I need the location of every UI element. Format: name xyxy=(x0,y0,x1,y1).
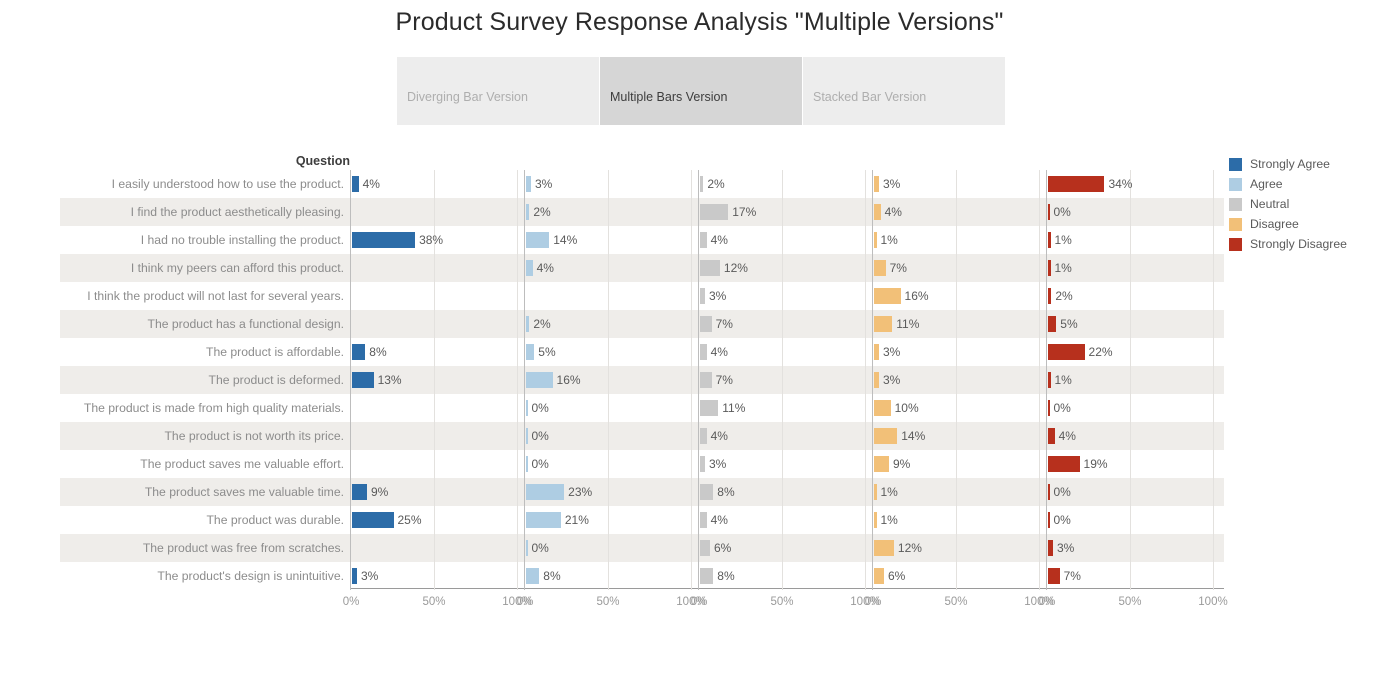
bar[interactable] xyxy=(874,204,881,220)
gridline-50 xyxy=(434,394,435,422)
gridline-100 xyxy=(517,338,518,366)
bar-value-label: 23% xyxy=(564,478,592,506)
axis-tick-label: 50% xyxy=(944,596,967,608)
chart-row: The product is affordable.8%5%4%3%22% xyxy=(0,338,1399,366)
chart-rows: I easily understood how to use the produ… xyxy=(0,170,1399,590)
gridline-50 xyxy=(608,366,609,394)
gridline-50 xyxy=(956,562,957,590)
bar[interactable] xyxy=(1048,176,1104,192)
gridline-50 xyxy=(608,282,609,310)
row-label: The product is made from high quality ma… xyxy=(60,394,350,422)
bar[interactable] xyxy=(700,484,713,500)
panel-strongly-agree: 3% xyxy=(350,562,524,590)
chart-row: The product saves me valuable time.9%23%… xyxy=(0,478,1399,506)
gridline-50 xyxy=(782,282,783,310)
row-label: The product is not worth its price. xyxy=(60,422,350,450)
legend-item-strongly-agree[interactable]: Strongly Agree xyxy=(1229,154,1389,174)
gridline-50 xyxy=(782,198,783,226)
bar-value-label: 8% xyxy=(713,562,734,590)
bar-value-label: 0% xyxy=(1050,506,1071,534)
bar[interactable] xyxy=(526,484,564,500)
bar-value-label: 0% xyxy=(528,422,549,450)
gridline-100 xyxy=(517,310,518,338)
bar[interactable] xyxy=(874,400,891,416)
panel-neutral: 4% xyxy=(698,506,872,534)
panel-neutral: 3% xyxy=(698,450,872,478)
bar-value-label: 16% xyxy=(901,282,929,310)
bar[interactable] xyxy=(700,316,712,332)
bar[interactable] xyxy=(352,344,365,360)
bar[interactable] xyxy=(1048,316,1056,332)
bar-value-label: 5% xyxy=(534,338,555,366)
row-panels: 25%21%4%1%0% xyxy=(350,506,1220,534)
bar[interactable] xyxy=(874,288,901,304)
panel-strongly-disagree: 1% xyxy=(1046,254,1220,282)
bar[interactable] xyxy=(1048,344,1085,360)
bar[interactable] xyxy=(874,456,889,472)
panel-strongly-agree: 8% xyxy=(350,338,524,366)
bar[interactable] xyxy=(700,428,707,444)
panel-neutral: 4% xyxy=(698,226,872,254)
chart-row: I think my peers can afford this product… xyxy=(0,254,1399,282)
gridline-100 xyxy=(1213,422,1214,450)
panel-disagree: 12% xyxy=(872,534,1046,562)
gridline-100 xyxy=(1213,310,1214,338)
bar[interactable] xyxy=(526,512,561,528)
panel-agree: 21% xyxy=(524,506,698,534)
bar-value-label: 1% xyxy=(1051,366,1072,394)
gridline-50 xyxy=(956,338,957,366)
axis-tick-label: 50% xyxy=(1118,596,1141,608)
panel-strongly-agree: 9% xyxy=(350,478,524,506)
gridline-100 xyxy=(1039,254,1040,282)
bar[interactable] xyxy=(874,316,892,332)
row-label: The product was durable. xyxy=(60,506,350,534)
panel-agree xyxy=(524,282,698,310)
gridline-100 xyxy=(691,254,692,282)
panel-strongly-disagree: 4% xyxy=(1046,422,1220,450)
legend-swatch-icon xyxy=(1229,198,1242,211)
bar-value-label: 4% xyxy=(881,198,902,226)
axis-panel-1: 0%50%100% xyxy=(524,592,698,614)
legend-label: Strongly Agree xyxy=(1250,157,1330,171)
gridline-100 xyxy=(1039,478,1040,506)
panel-agree: 14% xyxy=(524,226,698,254)
gridline-100 xyxy=(691,534,692,562)
gridline-100 xyxy=(691,198,692,226)
bar-value-label: 11% xyxy=(718,394,745,422)
gridline-50 xyxy=(608,534,609,562)
gridline-50 xyxy=(782,534,783,562)
gridline-100 xyxy=(1039,198,1040,226)
axis-tick-label: 50% xyxy=(596,596,619,608)
gridline-100 xyxy=(1213,226,1214,254)
legend-item-disagree[interactable]: Disagree xyxy=(1229,214,1389,234)
panel-disagree: 10% xyxy=(872,394,1046,422)
gridline-100 xyxy=(1039,422,1040,450)
panel-strongly-disagree: 2% xyxy=(1046,282,1220,310)
bar-value-label: 7% xyxy=(1060,562,1081,590)
bar-value-label: 3% xyxy=(705,282,726,310)
panel-disagree: 3% xyxy=(872,366,1046,394)
panel-neutral: 2% xyxy=(698,170,872,198)
gridline-50 xyxy=(782,562,783,590)
version-tab-0[interactable]: Diverging Bar Version xyxy=(397,57,599,125)
bar-value-label: 8% xyxy=(713,478,734,506)
bar-value-label: 13% xyxy=(374,366,402,394)
gridline-50 xyxy=(608,562,609,590)
bar[interactable] xyxy=(352,232,415,248)
bar-value-label: 2% xyxy=(1051,282,1072,310)
gridline-50 xyxy=(1130,310,1131,338)
legend-item-neutral[interactable]: Neutral xyxy=(1229,194,1389,214)
gridline-50 xyxy=(1130,338,1131,366)
gridline-100 xyxy=(865,226,866,254)
bar-value-label: 19% xyxy=(1080,450,1108,478)
panel-strongly-agree: 13% xyxy=(350,366,524,394)
gridline-50 xyxy=(782,310,783,338)
panel-agree: 2% xyxy=(524,310,698,338)
bar-value-label: 7% xyxy=(712,310,733,338)
panel-agree: 0% xyxy=(524,394,698,422)
legend-label: Disagree xyxy=(1250,217,1299,231)
bar[interactable] xyxy=(526,232,549,248)
bar-value-label: 8% xyxy=(539,562,560,590)
panel-disagree: 16% xyxy=(872,282,1046,310)
bar[interactable] xyxy=(700,512,707,528)
chart-row: The product is not worth its price.0%4%1… xyxy=(0,422,1399,450)
chart-row: I had no trouble installing the product.… xyxy=(0,226,1399,254)
gridline-100 xyxy=(517,394,518,422)
gridline-50 xyxy=(782,478,783,506)
bar-value-label: 3% xyxy=(879,170,900,198)
bar-value-label: 11% xyxy=(892,310,919,338)
gridline-50 xyxy=(956,506,957,534)
row-panels: 4%12%7%1% xyxy=(350,254,1220,282)
bar[interactable] xyxy=(700,204,728,220)
bar-value-label: 5% xyxy=(1056,310,1077,338)
gridline-50 xyxy=(956,450,957,478)
gridline-100 xyxy=(517,562,518,590)
panel-neutral: 12% xyxy=(698,254,872,282)
bar-value-label: 1% xyxy=(877,506,898,534)
bar-value-label: 1% xyxy=(877,226,898,254)
panel-agree: 8% xyxy=(524,562,698,590)
gridline-100 xyxy=(1039,282,1040,310)
bar-value-label: 1% xyxy=(1051,226,1072,254)
panel-strongly-disagree: 5% xyxy=(1046,310,1220,338)
bar[interactable] xyxy=(700,540,710,556)
bar[interactable] xyxy=(526,260,533,276)
gridline-50 xyxy=(1130,450,1131,478)
bar-value-label: 0% xyxy=(528,450,549,478)
gridline-50 xyxy=(608,310,609,338)
bar[interactable] xyxy=(874,260,886,276)
gridline-50 xyxy=(782,422,783,450)
bar[interactable] xyxy=(874,428,897,444)
row-label: The product is affordable. xyxy=(60,338,350,366)
gridline-100 xyxy=(517,254,518,282)
row-panels: 38%14%4%1%1% xyxy=(350,226,1220,254)
panel-agree: 5% xyxy=(524,338,698,366)
gridline-50 xyxy=(1130,562,1131,590)
gridline-100 xyxy=(865,310,866,338)
gridline-50 xyxy=(1130,254,1131,282)
panel-strongly-disagree: 3% xyxy=(1046,534,1220,562)
axis-tick-label: 0% xyxy=(865,596,882,608)
gridline-100 xyxy=(1039,226,1040,254)
legend-swatch-icon xyxy=(1229,218,1242,231)
gridline-100 xyxy=(517,450,518,478)
gridline-100 xyxy=(517,170,518,198)
panel-disagree: 3% xyxy=(872,170,1046,198)
gridline-50 xyxy=(434,282,435,310)
gridline-50 xyxy=(956,170,957,198)
gridline-100 xyxy=(691,338,692,366)
gridline-50 xyxy=(782,226,783,254)
gridline-50 xyxy=(782,338,783,366)
gridline-50 xyxy=(956,254,957,282)
gridline-50 xyxy=(434,450,435,478)
gridline-50 xyxy=(608,254,609,282)
gridline-50 xyxy=(956,310,957,338)
row-panels: 3%8%8%6%7% xyxy=(350,562,1220,590)
row-label: The product was free from scratches. xyxy=(60,534,350,562)
panel-neutral: 8% xyxy=(698,478,872,506)
gridline-100 xyxy=(1213,366,1214,394)
bar[interactable] xyxy=(700,372,712,388)
gridline-100 xyxy=(691,450,692,478)
bar-value-label: 3% xyxy=(531,170,552,198)
axis-panel-4: 0%50%100% xyxy=(1046,592,1220,614)
gridline-50 xyxy=(434,254,435,282)
gridline-50 xyxy=(608,226,609,254)
panel-disagree: 3% xyxy=(872,338,1046,366)
gridline-100 xyxy=(1039,338,1040,366)
legend: Strongly AgreeAgreeNeutralDisagreeStrong… xyxy=(1229,154,1389,254)
chart-row: I easily understood how to use the produ… xyxy=(0,170,1399,198)
row-label: The product is deformed. xyxy=(60,366,350,394)
bar-value-label: 0% xyxy=(1050,198,1071,226)
gridline-100 xyxy=(1039,506,1040,534)
bar-value-label: 4% xyxy=(707,338,728,366)
gridline-50 xyxy=(608,506,609,534)
bar-value-label: 3% xyxy=(879,366,900,394)
bar[interactable] xyxy=(874,540,894,556)
bar[interactable] xyxy=(1048,456,1080,472)
row-panels: 3%16%2% xyxy=(350,282,1220,310)
bar-value-label: 1% xyxy=(1051,254,1072,282)
panel-strongly-disagree: 1% xyxy=(1046,366,1220,394)
gridline-50 xyxy=(1130,226,1131,254)
gridline-50 xyxy=(782,394,783,422)
legend-swatch-icon xyxy=(1229,178,1242,191)
gridline-50 xyxy=(956,478,957,506)
axis-panel-0: 0%50%100% xyxy=(350,592,524,614)
row-label: The product saves me valuable time. xyxy=(60,478,350,506)
gridline-100 xyxy=(865,254,866,282)
row-panels: 0%6%12%3% xyxy=(350,534,1220,562)
panel-strongly-agree: 38% xyxy=(350,226,524,254)
panel-strongly-agree xyxy=(350,198,524,226)
bar[interactable] xyxy=(352,484,367,500)
row-panels: 0%3%9%19% xyxy=(350,450,1220,478)
panel-agree: 23% xyxy=(524,478,698,506)
gridline-100 xyxy=(517,282,518,310)
gridline-50 xyxy=(1130,394,1131,422)
bar[interactable] xyxy=(700,344,707,360)
gridline-50 xyxy=(956,394,957,422)
chart-row: The product's design is unintuitive.3%8%… xyxy=(0,562,1399,590)
legend-item-strongly-disagree[interactable]: Strongly Disagree xyxy=(1229,234,1389,254)
chart-row: The product was free from scratches.0%6%… xyxy=(0,534,1399,562)
bar[interactable] xyxy=(352,512,394,528)
bar-value-label: 9% xyxy=(889,450,910,478)
panel-disagree: 14% xyxy=(872,422,1046,450)
gridline-50 xyxy=(782,366,783,394)
bar-value-label: 6% xyxy=(710,534,731,562)
gridline-100 xyxy=(517,198,518,226)
bar-value-label: 4% xyxy=(707,422,728,450)
bar[interactable] xyxy=(700,568,713,584)
gridline-100 xyxy=(691,478,692,506)
panel-disagree: 9% xyxy=(872,450,1046,478)
axis-tick-label: 0% xyxy=(1039,596,1056,608)
bar-value-label: 10% xyxy=(891,394,919,422)
gridline-100 xyxy=(691,562,692,590)
row-panels: 0%4%14%4% xyxy=(350,422,1220,450)
row-panels: 2%17%4%0% xyxy=(350,198,1220,226)
row-label: I find the product aesthetically pleasin… xyxy=(60,198,350,226)
bar[interactable] xyxy=(1048,568,1060,584)
bar-value-label: 16% xyxy=(553,366,581,394)
gridline-100 xyxy=(1213,170,1214,198)
bar-value-label: 38% xyxy=(415,226,443,254)
legend-item-agree[interactable]: Agree xyxy=(1229,174,1389,194)
panel-strongly-disagree: 0% xyxy=(1046,478,1220,506)
bar-value-label: 7% xyxy=(712,366,733,394)
gridline-50 xyxy=(782,506,783,534)
bar[interactable] xyxy=(700,232,707,248)
bar-value-label: 2% xyxy=(529,310,550,338)
axis-panel-2: 0%50%100% xyxy=(698,592,872,614)
gridline-100 xyxy=(517,534,518,562)
bar[interactable] xyxy=(526,568,539,584)
axis-tick-label: 100% xyxy=(1198,596,1227,608)
gridline-50 xyxy=(608,450,609,478)
gridline-50 xyxy=(782,254,783,282)
gridline-50 xyxy=(434,366,435,394)
gridline-100 xyxy=(691,310,692,338)
version-tab-2[interactable]: Stacked Bar Version xyxy=(803,57,1005,125)
bar-value-label: 2% xyxy=(703,170,724,198)
version-tab-1[interactable]: Multiple Bars Version xyxy=(600,57,802,125)
bar-value-label: 34% xyxy=(1104,170,1132,198)
panel-neutral: 17% xyxy=(698,198,872,226)
panel-strongly-agree xyxy=(350,394,524,422)
panel-neutral: 3% xyxy=(698,282,872,310)
bar-value-label: 4% xyxy=(707,506,728,534)
panel-strongly-disagree: 0% xyxy=(1046,198,1220,226)
panel-disagree: 11% xyxy=(872,310,1046,338)
chart-row: The product was durable.25%21%4%1%0% xyxy=(0,506,1399,534)
legend-label: Agree xyxy=(1250,177,1283,191)
panel-strongly-agree xyxy=(350,254,524,282)
axis-tick-label: 0% xyxy=(517,596,534,608)
gridline-50 xyxy=(782,450,783,478)
row-panels: 2%7%11%5% xyxy=(350,310,1220,338)
gridline-100 xyxy=(865,394,866,422)
gridline-50 xyxy=(434,562,435,590)
bar[interactable] xyxy=(1048,428,1055,444)
panel-agree: 2% xyxy=(524,198,698,226)
row-panels: 4%3%2%3%34% xyxy=(350,170,1220,198)
gridline-100 xyxy=(1039,394,1040,422)
gridline-100 xyxy=(517,226,518,254)
chart-row: I think the product will not last for se… xyxy=(0,282,1399,310)
bar-value-label: 17% xyxy=(728,198,756,226)
gridline-100 xyxy=(691,282,692,310)
gridline-50 xyxy=(956,366,957,394)
panel-agree: 0% xyxy=(524,422,698,450)
panel-strongly-disagree: 34% xyxy=(1046,170,1220,198)
row-panels: 9%23%8%1%0% xyxy=(350,478,1220,506)
bar-value-label: 9% xyxy=(367,478,388,506)
gridline-50 xyxy=(956,282,957,310)
gridline-100 xyxy=(691,226,692,254)
panel-neutral: 7% xyxy=(698,310,872,338)
bar-value-label: 4% xyxy=(533,254,554,282)
bar[interactable] xyxy=(526,372,553,388)
gridline-50 xyxy=(956,534,957,562)
bar[interactable] xyxy=(352,176,359,192)
bar-value-label: 0% xyxy=(528,394,549,422)
bar-value-label: 6% xyxy=(884,562,905,590)
chart-row: The product is made from high quality ma… xyxy=(0,394,1399,422)
gridline-50 xyxy=(434,338,435,366)
bar[interactable] xyxy=(352,372,374,388)
gridline-100 xyxy=(1213,394,1214,422)
bar[interactable] xyxy=(700,260,720,276)
chart-row: The product is deformed.13%16%7%3%1% xyxy=(0,366,1399,394)
gridline-50 xyxy=(1130,198,1131,226)
panel-strongly-agree: 4% xyxy=(350,170,524,198)
gridline-100 xyxy=(517,506,518,534)
panel-strongly-agree xyxy=(350,422,524,450)
gridline-100 xyxy=(1213,338,1214,366)
legend-label: Strongly Disagree xyxy=(1250,237,1347,251)
bar[interactable] xyxy=(700,400,718,416)
gridline-100 xyxy=(691,366,692,394)
gridline-50 xyxy=(434,478,435,506)
bar-value-label: 8% xyxy=(365,338,386,366)
chart-plot-area: Question I easily understood how to use … xyxy=(0,152,1399,622)
bar[interactable] xyxy=(526,344,534,360)
bar-value-label: 3% xyxy=(705,450,726,478)
gridline-50 xyxy=(608,478,609,506)
bar-value-label: 7% xyxy=(886,254,907,282)
panel-disagree: 4% xyxy=(872,198,1046,226)
panel-agree: 0% xyxy=(524,450,698,478)
panel-neutral: 8% xyxy=(698,562,872,590)
panel-neutral: 7% xyxy=(698,366,872,394)
row-label: The product's design is unintuitive. xyxy=(60,562,350,590)
gridline-50 xyxy=(1130,478,1131,506)
bar-value-label: 14% xyxy=(549,226,577,254)
axis-tick-label: 50% xyxy=(422,596,445,608)
gridline-100 xyxy=(865,450,866,478)
bar[interactable] xyxy=(874,568,884,584)
